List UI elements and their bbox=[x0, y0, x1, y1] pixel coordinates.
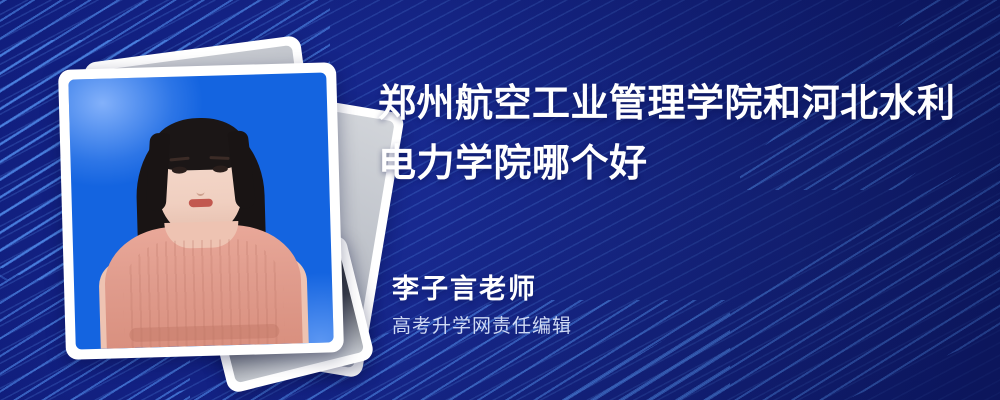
author-name: 李子言老师 bbox=[392, 272, 572, 306]
article-cover-banner: 郑州航空工业管理学院和河北水利电力学院哪个好 李子言老师 高考升学网责任编辑 bbox=[0, 0, 1000, 400]
editor-portrait-photo bbox=[68, 72, 333, 349]
portrait-nose bbox=[196, 185, 204, 196]
page-title: 郑州航空工业管理学院和河北水利电力学院哪个好 bbox=[378, 74, 956, 194]
portrait-mouth bbox=[189, 199, 213, 208]
banner-text-column: 郑州航空工业管理学院和河北水利电力学院哪个好 李子言老师 高考升学网责任编辑 bbox=[378, 0, 978, 400]
portrait-hair-front bbox=[150, 117, 247, 172]
editor-portrait-card bbox=[58, 62, 344, 360]
author-role: 高考升学网责任编辑 bbox=[392, 314, 572, 340]
author-block: 李子言老师 高考升学网责任编辑 bbox=[392, 272, 572, 340]
avatar bbox=[68, 72, 333, 349]
photo-card-stack bbox=[52, 22, 372, 372]
